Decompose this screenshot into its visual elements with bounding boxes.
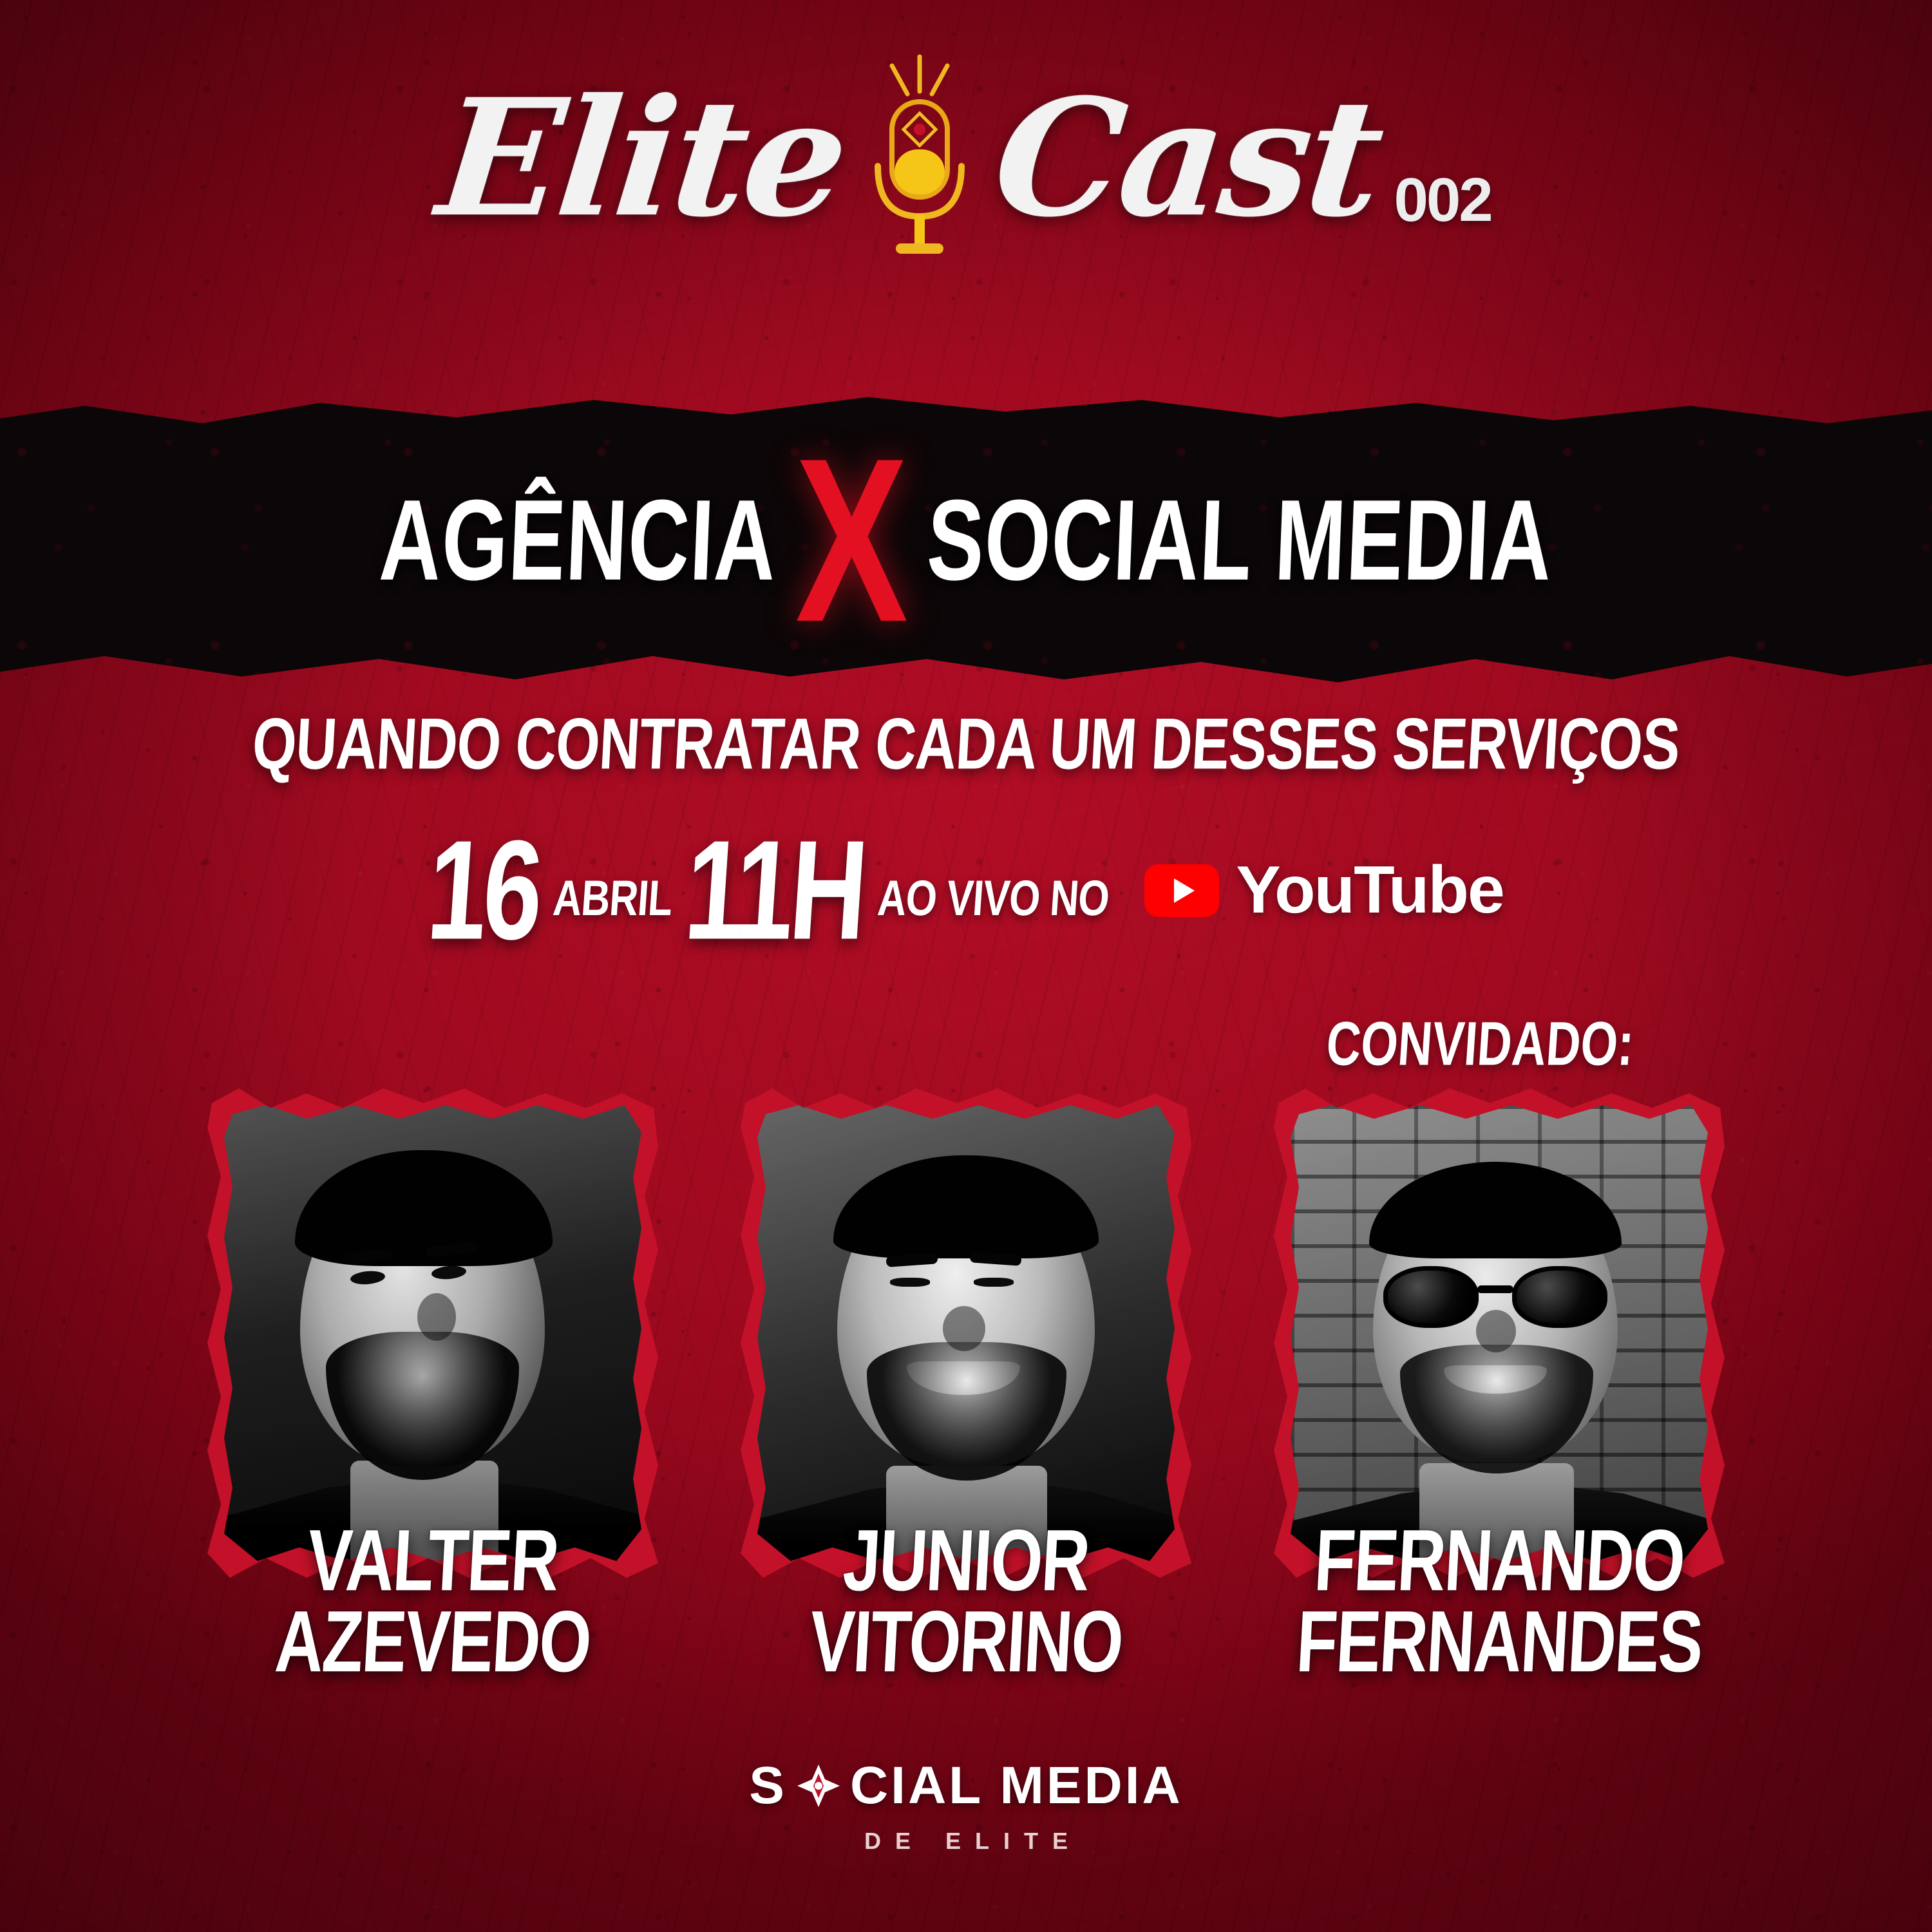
footer-brand-part2: CIAL MEDIA	[850, 1756, 1183, 1816]
topic-left-term: AGÊNCIA	[377, 474, 779, 605]
episode-number: 002	[1394, 165, 1492, 236]
topic-right-term: SOCIAL MEDIA	[925, 474, 1555, 605]
youtube-badge[interactable]: YouTube	[1144, 852, 1503, 929]
footer-brand-tagline: DE ELITE	[0, 1828, 1932, 1855]
diamond-star-icon	[795, 1762, 842, 1810]
speaker-name: FERNANDO FERNANDES	[1274, 1530, 1725, 1674]
speaker-photo-frame	[1274, 1088, 1725, 1578]
youtube-play-icon	[1144, 864, 1219, 917]
promo-poster: Elite Cast 002	[0, 0, 1932, 1932]
live-prefix-label: AO VIVO NO	[876, 870, 1111, 927]
logo-word-elite: Elite	[432, 77, 851, 238]
schedule-month: ABRIL	[551, 870, 674, 927]
guest-label: CONVIDADO:	[1324, 1008, 1636, 1079]
speaker-photo-frame	[207, 1088, 658, 1578]
speaker-portrait	[757, 1105, 1175, 1561]
speaker-last-name: VITORINO	[739, 1602, 1194, 1683]
speaker-name: VALTER AZEVEDO	[207, 1530, 658, 1674]
footer-brand-part1: S	[749, 1756, 787, 1816]
speaker-photo-frame	[741, 1088, 1191, 1578]
speakers-row: VALTER AZEVEDO	[0, 1088, 1932, 1674]
speaker-last-name: FERNANDES	[1272, 1602, 1727, 1683]
episode-subtitle: QUANDO CONTRATAR CADA UM DESSES SERVIÇOS	[0, 702, 1932, 786]
footer-brand: S CIAL MEDIA DE ELITE	[0, 1756, 1932, 1855]
schedule-day: 16	[424, 820, 544, 961]
speaker-card: JUNIOR VITORINO	[741, 1088, 1191, 1674]
versus-x-mark: X	[795, 449, 908, 631]
speaker-name: JUNIOR VITORINO	[741, 1530, 1191, 1674]
youtube-label: YouTube	[1236, 852, 1503, 929]
schedule-time: 11H	[681, 820, 868, 961]
speaker-first-name: VALTER	[205, 1520, 661, 1602]
speaker-card: VALTER AZEVEDO	[207, 1088, 658, 1674]
schedule-row: 16 ABRIL 11H AO VIVO NO YouTube	[0, 837, 1932, 943]
logo-word-cast: Cast	[988, 77, 1387, 238]
speaker-first-name: FERNANDO	[1272, 1520, 1727, 1602]
microphone-icon	[858, 52, 981, 264]
topic-banner: AGÊNCIA X SOCIAL MEDIA	[0, 394, 1932, 685]
speaker-card: FERNANDO FERNANDES	[1274, 1088, 1725, 1674]
speaker-last-name: AZEVEDO	[205, 1602, 661, 1683]
speaker-first-name: JUNIOR	[739, 1520, 1194, 1602]
brand-logo: Elite Cast 002	[0, 52, 1932, 264]
speaker-portrait	[224, 1105, 641, 1561]
speaker-portrait	[1291, 1105, 1708, 1561]
